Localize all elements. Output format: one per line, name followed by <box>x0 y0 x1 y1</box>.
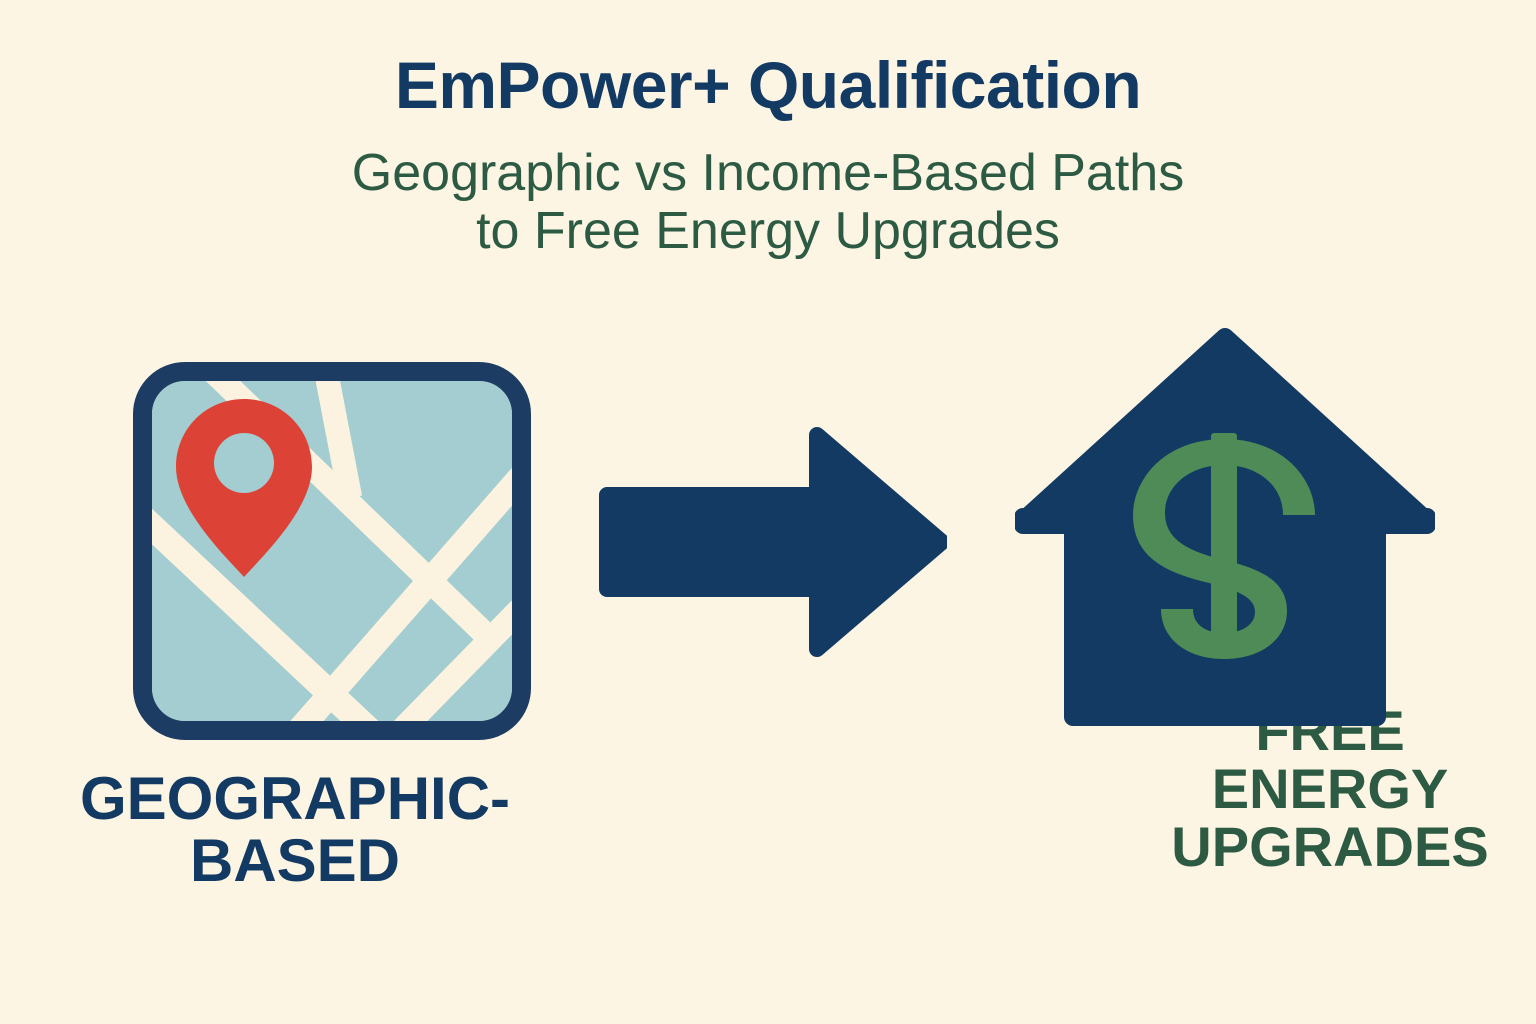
geographic-caption: GEOGRAPHIC- BASED <box>0 768 590 893</box>
house-illustration <box>1015 325 1435 727</box>
right-arrow-icon <box>597 427 947 657</box>
map-pin-icon <box>133 362 531 740</box>
transition-panel: FREE ENERGY UPGRADES <box>560 320 980 1024</box>
arrow-illustration <box>597 427 947 657</box>
geographic-panel: GEOGRAPHIC- BASED <box>0 320 590 1024</box>
subtitle-line-1: Geographic vs Income-Based Paths <box>0 144 1536 202</box>
page-title: EmPower+ Qualification <box>0 0 1536 118</box>
geographic-caption-line-2: BASED <box>0 830 590 892</box>
icon-row: GEOGRAPHIC- BASED FREE ENERGY UPGRADES <box>0 320 1536 1024</box>
map-illustration <box>152 381 512 721</box>
house-dollar-icon <box>1015 325 1435 727</box>
header: EmPower+ Qualification Geographic vs Inc… <box>0 0 1536 260</box>
page-subtitle: Geographic vs Income-Based Paths to Free… <box>0 118 1536 260</box>
subtitle-line-2: to Free Energy Upgrades <box>0 202 1536 260</box>
geographic-caption-line-1: GEOGRAPHIC- <box>0 768 590 830</box>
income-panel: INCOME- BASED <box>960 320 1536 1024</box>
infographic-canvas: EmPower+ Qualification Geographic vs Inc… <box>0 0 1536 1024</box>
